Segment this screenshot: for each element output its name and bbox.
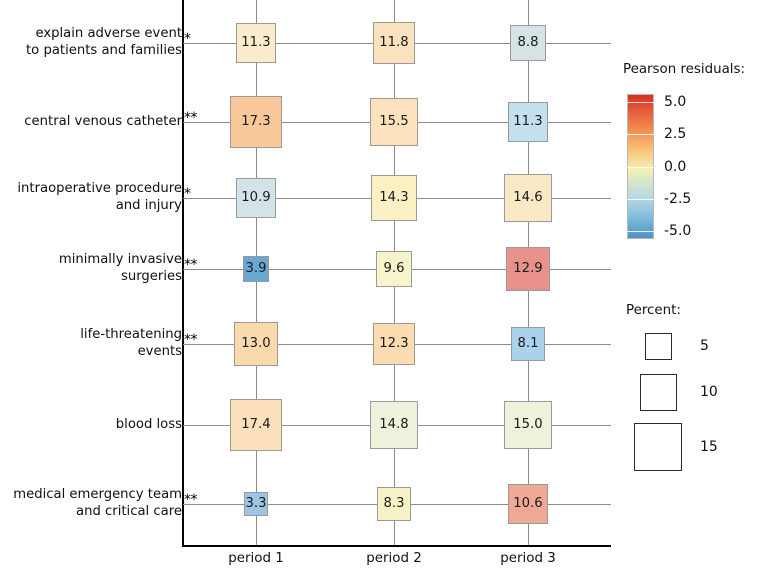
residual-tick-label-5: -5.0: [664, 223, 691, 239]
mosaic-cell-value: 14.8: [379, 418, 408, 431]
residual-tick-label-1: 5.0: [664, 94, 686, 110]
mosaic-cell-r6-c2[interactable]: 14.8: [370, 401, 418, 449]
percent-legend-label-10: 10: [700, 384, 718, 400]
mosaic-cell-value: 17.3: [241, 115, 270, 128]
mosaic-cell-value: 11.3: [241, 36, 270, 49]
percent-legend-title: Percent:: [626, 303, 681, 318]
percent-legend-label-15: 15: [700, 439, 718, 455]
mosaic-cell-value: 17.4: [241, 418, 270, 431]
residual-tick-mark-1: [627, 102, 654, 103]
residual-tick-label-4: -2.5: [664, 191, 691, 207]
mosaic-cell-r6-c1[interactable]: 17.4: [230, 399, 283, 452]
residual-tick-label-3: 0.0: [664, 159, 686, 175]
mosaic-cell-value: 11.8: [379, 36, 408, 49]
mosaic-cell-r4-c1[interactable]: 3.9: [243, 256, 268, 281]
mosaic-cell-r2-c2[interactable]: 15.5: [370, 98, 419, 147]
x-axis-line: [182, 545, 611, 547]
mosaic-cell-r1-c1[interactable]: 11.3: [236, 23, 276, 63]
mosaic-cell-r4-c3[interactable]: 12.9: [506, 247, 550, 291]
mosaic-cell-value: 8.8: [518, 36, 539, 49]
mosaic-cell-r3-c1[interactable]: 10.9: [236, 178, 276, 218]
residual-tick-mark-3: [627, 167, 654, 168]
significance-marker-row-4: **: [184, 258, 197, 272]
mosaic-cell-value: 10.9: [241, 191, 270, 204]
mosaic-cell-value: 9.6: [384, 262, 405, 275]
residual-tick-label-2: 2.5: [664, 126, 686, 142]
row-label-7: medical emergency team and critical care: [0, 486, 182, 520]
mosaic-cell-r2-c1[interactable]: 17.3: [230, 96, 283, 149]
mosaic-cell-r5-c1[interactable]: 13.0: [234, 322, 278, 366]
row-label-4: minimally invasive surgeries: [0, 251, 182, 285]
significance-marker-row-3: *: [184, 187, 191, 201]
percent-legend-box-10: [640, 374, 677, 411]
row-label-1: explain adverse event to patients and fa…: [0, 25, 182, 59]
mosaic-cell-value: 12.3: [379, 337, 408, 350]
mosaic-cell-r7-c1[interactable]: 3.3: [244, 492, 268, 516]
percent-legend-box-5: [645, 333, 672, 360]
significance-marker-row-2: **: [184, 111, 197, 125]
row-label-3: intraoperative procedure and injury: [0, 180, 182, 214]
significance-marker-row-7: **: [184, 493, 197, 507]
mosaic-cell-r6-c3[interactable]: 15.0: [504, 401, 552, 449]
mosaic-cell-r1-c3[interactable]: 8.8: [510, 25, 545, 60]
row-label-5: life-threatening events: [0, 326, 182, 360]
mosaic-cell-value: 3.3: [245, 497, 266, 510]
mosaic-cell-value: 11.3: [513, 115, 542, 128]
mosaic-cell-value: 14.3: [379, 191, 408, 204]
mosaic-cell-r1-c2[interactable]: 11.8: [373, 22, 414, 63]
mosaic-cell-value: 13.0: [241, 337, 270, 350]
mosaic-cell-r3-c3[interactable]: 14.6: [504, 174, 551, 221]
column-label-3: period 3: [458, 551, 598, 566]
residual-tick-mark-2: [627, 134, 654, 135]
mosaic-cell-r3-c2[interactable]: 14.3: [371, 175, 418, 222]
significance-marker-row-1: *: [184, 32, 191, 46]
mosaic-cell-r2-c3[interactable]: 11.3: [508, 102, 548, 142]
residual-tick-mark-4: [627, 199, 654, 200]
mosaic-cell-value: 15.0: [513, 418, 542, 431]
mosaic-cell-r7-c3[interactable]: 10.6: [508, 484, 547, 523]
residual-legend-title: Pearson residuals:: [623, 62, 745, 77]
mosaic-cell-value: 12.9: [513, 262, 542, 275]
mosaic-cell-r7-c2[interactable]: 8.3: [377, 487, 411, 521]
mosaic-cell-value: 3.9: [245, 262, 266, 275]
mosaic-cell-value: 14.6: [513, 191, 542, 204]
significance-marker-row-5: **: [184, 333, 197, 347]
row-label-6: blood loss: [0, 416, 182, 433]
mosaic-cell-r5-c3[interactable]: 8.1: [511, 327, 545, 361]
percent-legend-label-5: 5: [700, 338, 709, 354]
percent-legend-box-15: [634, 423, 682, 471]
y-axis-line: [182, 0, 184, 547]
mosaic-cell-value: 15.5: [379, 115, 408, 128]
mosaic-cell-value: 8.1: [517, 337, 538, 350]
row-label-2: central venous catheter: [0, 113, 182, 130]
mosaic-plot: explain adverse event to patients and fa…: [0, 0, 766, 570]
mosaic-cell-r4-c2[interactable]: 9.6: [376, 251, 413, 288]
mosaic-cell-value: 10.6: [513, 497, 542, 510]
mosaic-cell-r5-c2[interactable]: 12.3: [373, 323, 415, 365]
column-label-2: period 2: [324, 551, 464, 566]
column-label-1: period 1: [186, 551, 326, 566]
mosaic-cell-value: 8.3: [383, 497, 404, 510]
residual-tick-mark-5: [627, 231, 654, 232]
